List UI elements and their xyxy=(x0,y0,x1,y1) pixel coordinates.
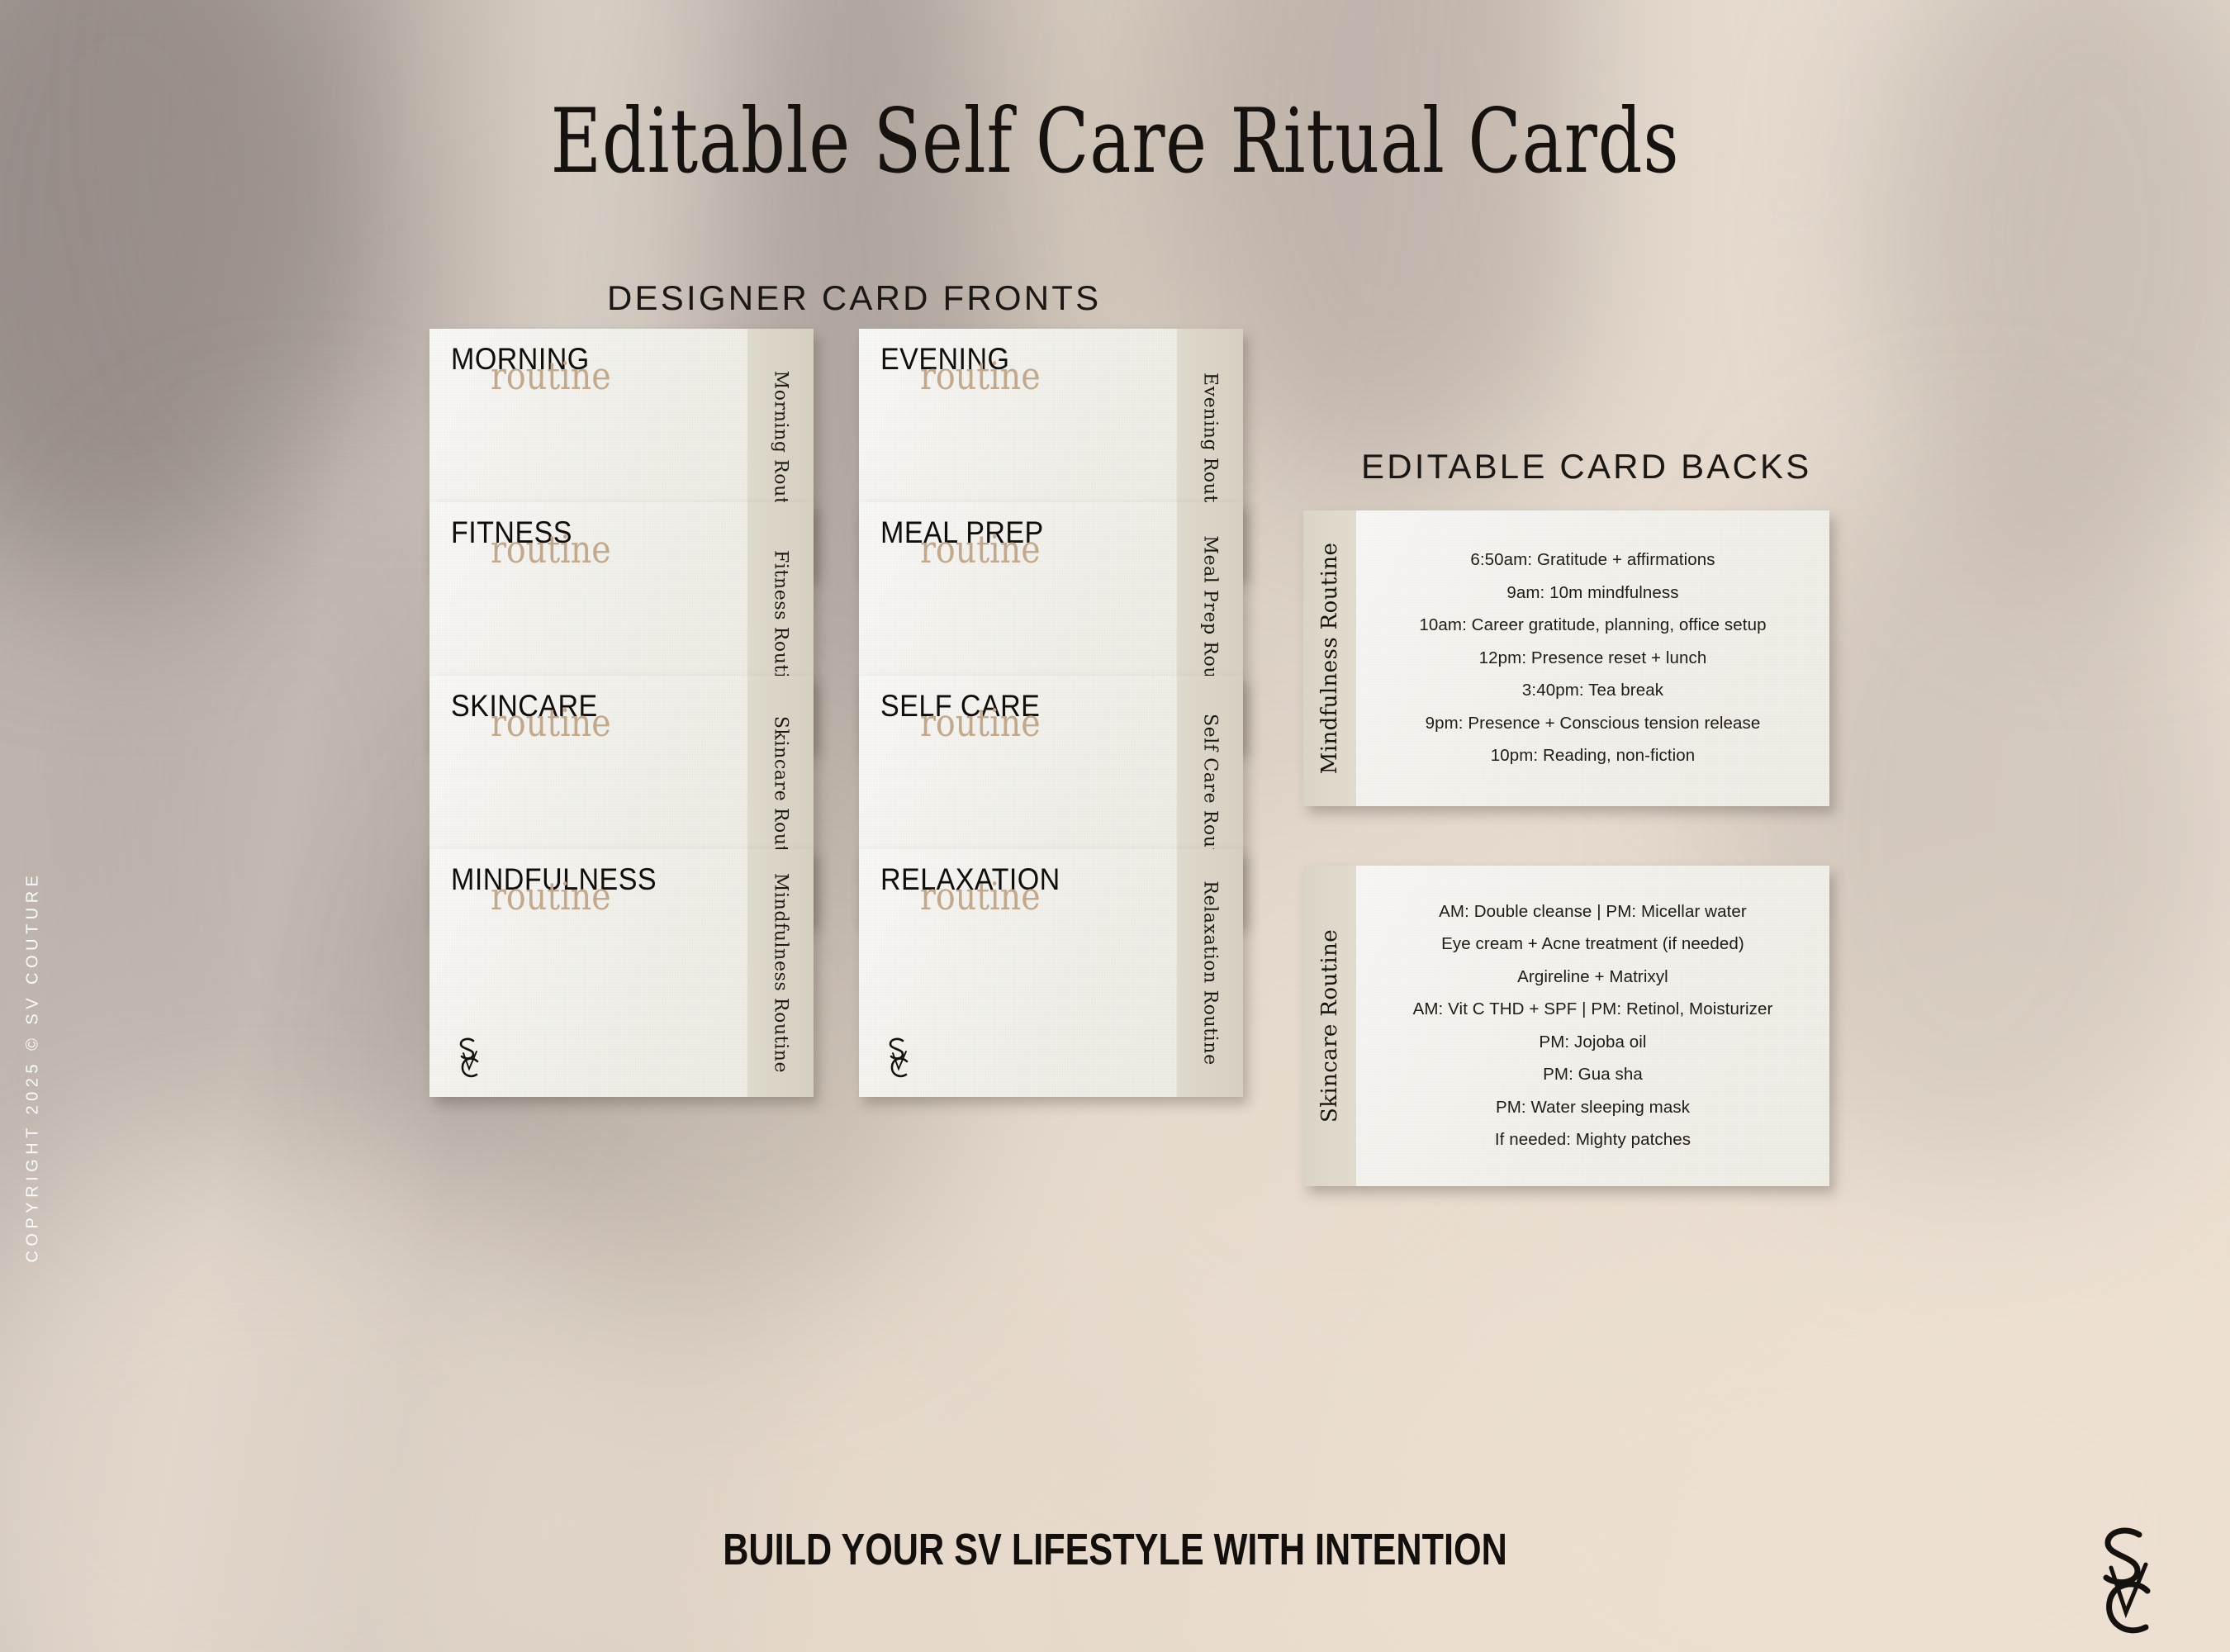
card-front[interactable]: Mindfulness RoutineMINDFULNESSroutine xyxy=(429,849,814,1097)
tagline: BUILD YOUR SV LIFESTYLE WITH INTENTION xyxy=(223,1524,2007,1575)
card-back-line: If needed: Mighty patches xyxy=(1495,1132,1691,1149)
card-title-block: MORNINGroutine xyxy=(451,344,630,395)
card-tab-label: Relaxation Routine xyxy=(1200,881,1221,1065)
card-back-line: AM: Double cleanse | PM: Micellar water xyxy=(1439,904,1747,921)
card-title-block: MINDFULNESSroutine xyxy=(451,864,675,915)
card-back-line: 6:50am: Gratitude + affirmations xyxy=(1470,552,1715,569)
page-title: Editable Self Care Ritual Cards xyxy=(245,97,1985,187)
card-back-line: 9pm: Presence + Conscious tension releas… xyxy=(1426,715,1761,733)
card-script-word: routine xyxy=(920,530,1041,568)
card-title-block: RELAXATIONroutine xyxy=(880,864,1076,915)
card-back-line: 9am: 10m mindfulness xyxy=(1506,585,1678,602)
card-title-block: SKINCAREroutine xyxy=(451,691,630,742)
sv-couture-logo xyxy=(2075,1520,2174,1644)
card-back-line: Eye cream + Acne treatment (if needed) xyxy=(1441,936,1744,953)
card-back-line: 10am: Career gratitude, planning, office… xyxy=(1419,617,1766,634)
card-title-block: EVENINGroutine xyxy=(880,344,1060,395)
card-back[interactable]: Skincare RoutineAM: Double cleanse | PM:… xyxy=(1303,866,1829,1186)
card-script-word: routine xyxy=(491,530,611,568)
copyright-notice: COPYRIGHT 2025 © SV COUTURE xyxy=(24,770,43,1365)
card-back[interactable]: Mindfulness Routine6:50am: Gratitude + a… xyxy=(1303,510,1829,806)
card-back-line: PM: Gua sha xyxy=(1543,1066,1643,1084)
card-script-word: routine xyxy=(491,357,611,395)
card-back-line: Argireline + Matrixyl xyxy=(1517,969,1668,986)
svc-monogram-icon xyxy=(451,1036,484,1079)
card-side-tab: Skincare Routine xyxy=(1303,866,1356,1186)
card-back-line: 3:40pm: Tea break xyxy=(1522,682,1663,700)
card-back-lines: 6:50am: Gratitude + affirmations9am: 10m… xyxy=(1356,510,1829,806)
card-back-line: PM: Water sleeping mask xyxy=(1496,1099,1690,1117)
card-back-line: PM: Jojoba oil xyxy=(1539,1034,1646,1051)
card-script-word: routine xyxy=(920,357,1041,395)
card-side-tab: Mindfulness Routine xyxy=(747,849,814,1097)
card-script-word: routine xyxy=(920,877,1054,915)
card-side-tab: Mindfulness Routine xyxy=(1303,510,1356,806)
card-script-word: routine xyxy=(491,704,611,742)
section-heading-card-fronts: DESIGNER CARD FRONTS xyxy=(607,278,1101,318)
card-back-lines: AM: Double cleanse | PM: Micellar waterE… xyxy=(1356,866,1829,1186)
card-tab-label: Skincare Routine xyxy=(1317,929,1342,1123)
svc-monogram-icon xyxy=(880,1036,913,1079)
card-script-word: routine xyxy=(920,704,1041,742)
card-title-block: SELF CAREroutine xyxy=(880,691,1060,742)
card-tab-label: Mindfulness Routine xyxy=(1317,543,1342,775)
card-script-word: routine xyxy=(491,877,649,915)
card-tab-label: Mindfulness Routine xyxy=(771,873,791,1073)
card-back-line: AM: Vit C THD + SPF | PM: Retinol, Moist… xyxy=(1413,1001,1773,1018)
card-back-line: 12pm: Presence reset + lunch xyxy=(1479,650,1707,667)
card-title-block: FITNESSroutine xyxy=(451,517,630,568)
card-side-tab: Relaxation Routine xyxy=(1177,849,1243,1097)
card-title-block: MEAL PREProutine xyxy=(880,517,1060,568)
section-heading-card-backs: EDITABLE CARD BACKS xyxy=(1361,447,1811,487)
card-front[interactable]: Relaxation RoutineRELAXATIONroutine xyxy=(859,849,1243,1097)
card-back-line: 10pm: Reading, non-fiction xyxy=(1491,748,1696,765)
